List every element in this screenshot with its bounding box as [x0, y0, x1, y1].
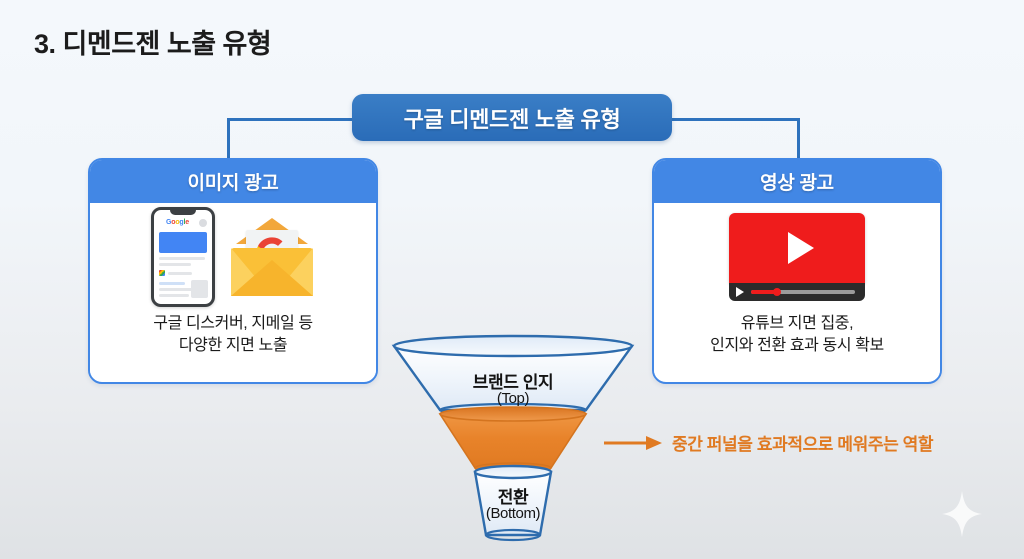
phone-text-line: [159, 282, 185, 285]
funnel-segment-top: [394, 336, 632, 416]
connector-line-left-vertical: [227, 118, 230, 160]
page-title: 3. 디멘드젠 노출 유형: [34, 22, 271, 61]
phone-text-line: [168, 272, 192, 275]
card-image-ad[interactable]: 이미지 광고 Google: [88, 158, 378, 384]
phone-text-line: [159, 257, 205, 260]
card-image-ad-header-label: 이미지 광고: [188, 168, 279, 195]
card-image-ad-caption: 구글 디스커버, 지메일 등 다양한 지면 노출: [153, 313, 312, 357]
phone-favicon-icon: [159, 270, 165, 276]
play-button-icon: [736, 287, 744, 297]
video-progress-knob: [773, 288, 781, 296]
card-image-ad-caption-line2: 다양한 지면 노출: [153, 335, 312, 357]
sparkle-icon: [942, 491, 982, 537]
funnel-segment-middle: [440, 407, 586, 473]
card-image-ad-body: Google: [90, 203, 376, 378]
funnel-annotation-label: 중간 퍼널을 효과적으로 메워주는 역할: [672, 430, 933, 455]
diagram-header-box: 구글 디멘드젠 노출 유형: [352, 94, 672, 141]
card-image-ad-visuals: Google: [90, 203, 376, 311]
youtube-player-icon: [729, 213, 865, 301]
card-video-ad-caption: 유튜브 지면 집중, 인지와 전환 효과 동시 확보: [710, 313, 884, 357]
funnel-segment-bottom: [475, 466, 551, 540]
phone-avatar-dot-icon: [199, 219, 207, 227]
connector-line-left-horizontal: [227, 118, 355, 121]
phone-text-line: [159, 288, 193, 291]
gmail-envelope-icon: [229, 218, 315, 296]
card-video-ad-body: 유튜브 지면 집중, 인지와 전환 효과 동시 확보: [654, 203, 940, 378]
connector-line-right-horizontal: [669, 118, 800, 121]
funnel-annotation: 중간 퍼널을 효과적으로 메워주는 역할: [604, 430, 933, 455]
play-triangle-icon: [788, 232, 814, 264]
google-wordmark-icon: Google: [166, 219, 189, 226]
video-progress-track: [751, 290, 855, 294]
card-video-ad-header-label: 영상 광고: [760, 168, 834, 195]
funnel-svg: [388, 332, 638, 544]
google-discover-phone-icon: Google: [151, 207, 215, 307]
phone-text-line: [159, 294, 189, 297]
video-screen: [729, 213, 865, 283]
card-video-ad-header: 영상 광고: [654, 160, 940, 203]
conversion-funnel-graphic: 브랜드 인지 (Top) 전환 (Bottom): [388, 332, 638, 544]
diagram-header-label: 구글 디멘드젠 노출 유형: [404, 102, 621, 134]
slide-canvas: 3. 디멘드젠 노출 유형 구글 디멘드젠 노출 유형 이미지 광고 Googl…: [0, 0, 1024, 559]
phone-hero-image: [159, 232, 207, 253]
card-image-ad-caption-line1: 구글 디스커버, 지메일 등: [153, 313, 312, 335]
connector-line-right-vertical: [797, 118, 800, 160]
phone-thumbnail-image: [191, 280, 208, 298]
card-image-ad-header: 이미지 광고: [90, 160, 376, 203]
card-video-ad-caption-line1: 유튜브 지면 집중,: [710, 313, 884, 335]
phone-text-line: [159, 263, 191, 266]
right-arrow-icon: [604, 434, 662, 452]
phone-notch-icon: [170, 210, 196, 215]
envelope-front-flap: [231, 260, 313, 296]
card-video-ad[interactable]: 영상 광고 유튜브 지면 집중,: [652, 158, 942, 384]
card-video-ad-visuals: [654, 203, 940, 311]
card-video-ad-caption-line2: 인지와 전환 효과 동시 확보: [710, 335, 884, 357]
video-control-bar: [729, 283, 865, 301]
